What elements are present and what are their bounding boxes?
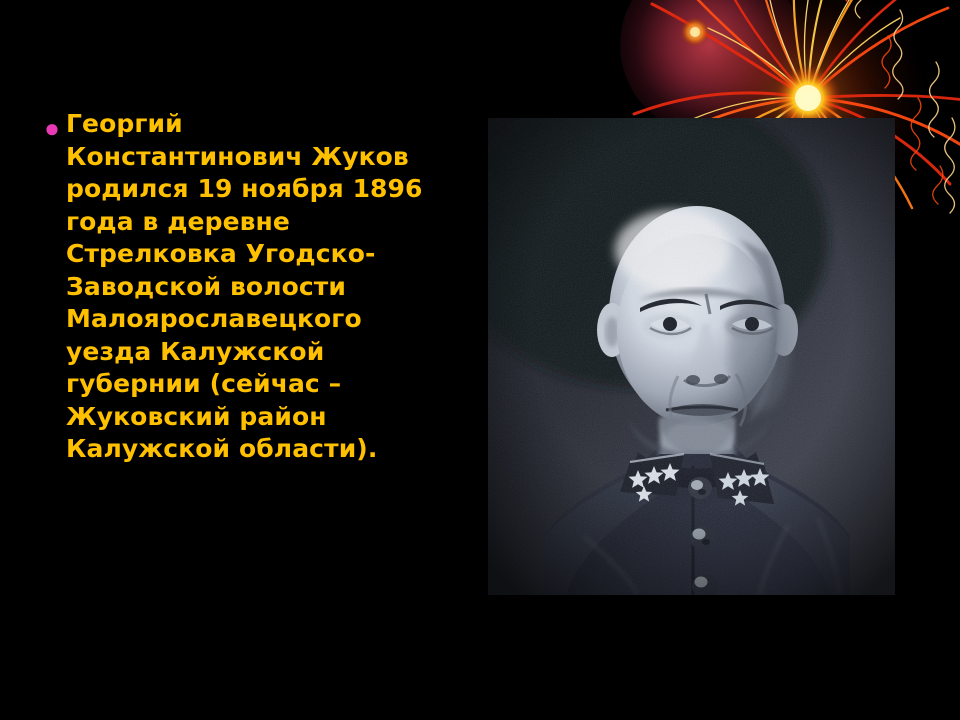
content-text-block: ● Георгий Константинович Жуков родился 1… — [38, 108, 458, 466]
red-glow-icon — [620, 0, 800, 135]
bullet-list-item: ● Георгий Константинович Жуков родился 1… — [38, 108, 458, 466]
portrait-photo — [488, 118, 895, 595]
slide-canvas: ● Георгий Константинович Жуков родился 1… — [0, 0, 960, 720]
bullet-paragraph-text: Георгий Константинович Жуков родился 19 … — [66, 108, 458, 466]
bullet-dot-icon: ● — [38, 112, 66, 144]
